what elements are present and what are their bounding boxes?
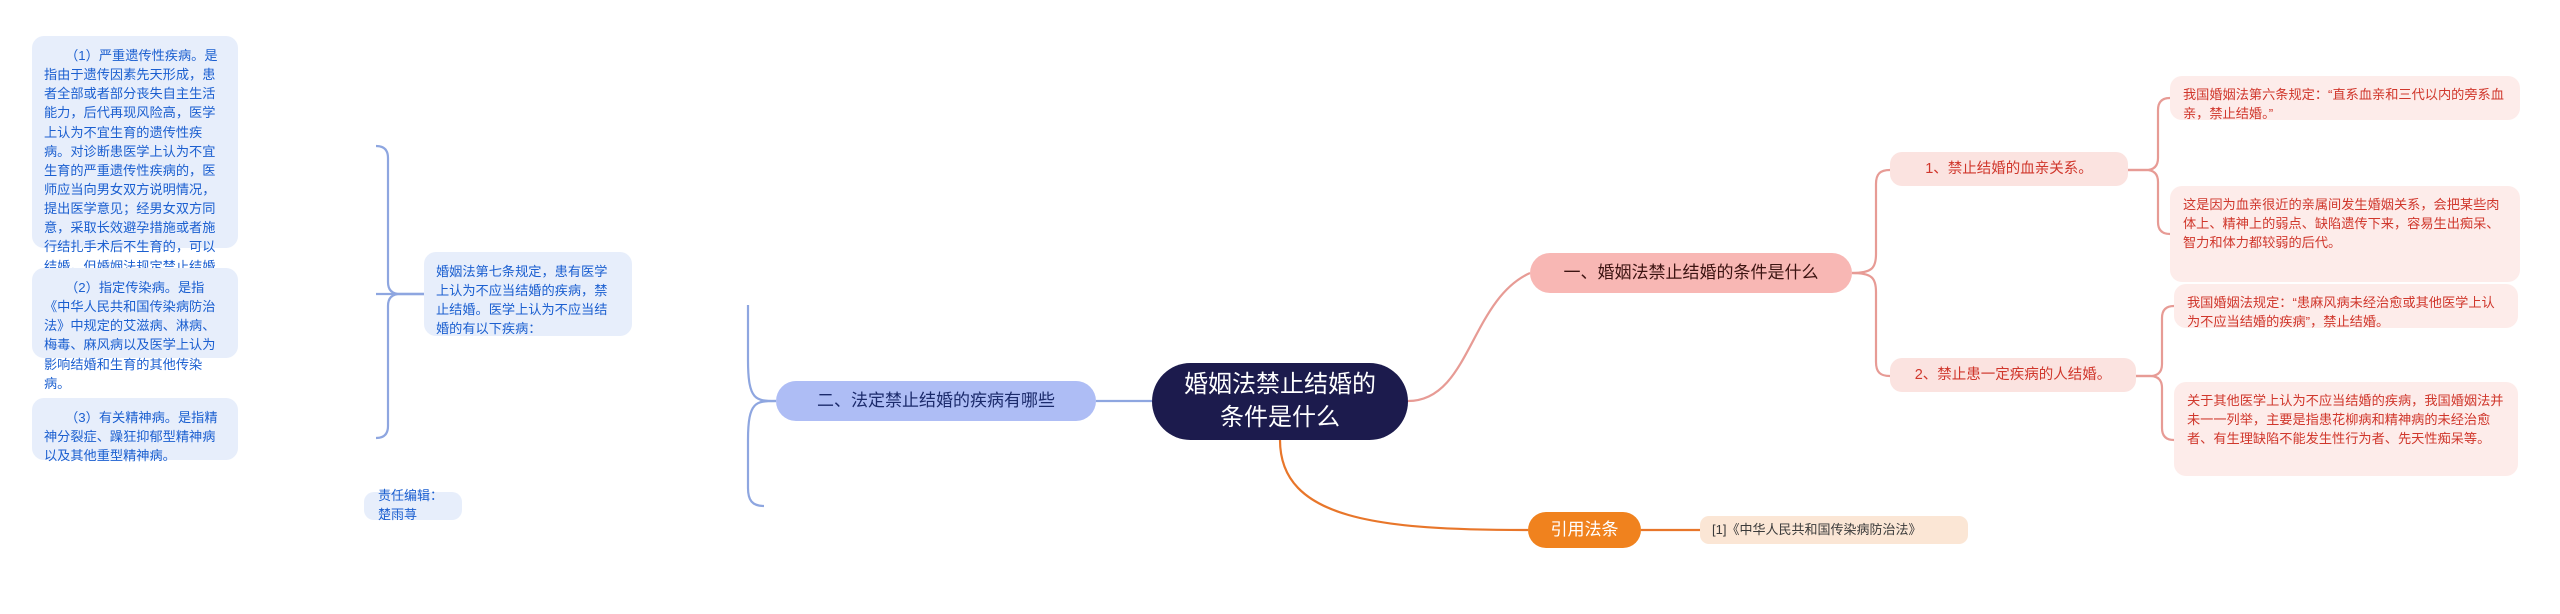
leaf-other-diseases-label: 关于其他医学上认为不应当结婚的疾病，我国婚姻法并未一一列举，主要是指患花柳病和精… bbox=[2187, 391, 2505, 448]
leaf-genetic-disease-label: （1）严重遗传性疾病。是指由于遗传因素先天形成，患者全部或者部分丧失自主生活能力… bbox=[44, 46, 226, 295]
root-node[interactable]: 婚姻法禁止结婚的条件是什么 bbox=[1152, 363, 1408, 440]
leaf-genetic-disease[interactable]: （1）严重遗传性疾病。是指由于遗传因素先天形成，患者全部或者部分丧失自主生活能力… bbox=[32, 36, 238, 248]
leaf-editor-credit-label: 责任编辑：楚雨荨 bbox=[378, 487, 448, 525]
leaf-infectious-disease-label: （2）指定传染病。是指《中华人民共和国传染病防治法》中规定的艾滋病、淋病、梅毒、… bbox=[44, 278, 226, 393]
leaf-other-diseases[interactable]: 关于其他医学上认为不应当结婚的疾病，我国婚姻法并未一一列举，主要是指患花柳病和精… bbox=[2174, 382, 2518, 476]
branch-node-cited-laws[interactable]: 引用法条 bbox=[1528, 512, 1641, 548]
leaf-leprosy-provision[interactable]: 我国婚姻法规定：“患麻风病未经治愈或其他医学上认为不应当结婚的疾病”，禁止结婚。 bbox=[2174, 284, 2518, 328]
mindmap-canvas: 婚姻法禁止结婚的条件是什么 二、法定禁止结婚的疾病有哪些 婚姻法第七条规定，患有… bbox=[0, 0, 2560, 614]
leaf-cited-law-1-label: [1]《中华人民共和国传染病防治法》 bbox=[1712, 521, 1921, 540]
leaf-article6-text-label: 我国婚姻法第六条规定：“直系血亲和三代以内的旁系血亲，禁止结婚。” bbox=[2183, 85, 2507, 123]
branch-node-conditions[interactable]: 一、婚姻法禁止结婚的条件是什么 bbox=[1530, 253, 1852, 293]
leaf-leprosy-provision-label: 我国婚姻法规定：“患麻风病未经治愈或其他医学上认为不应当结婚的疾病”，禁止结婚。 bbox=[2187, 293, 2505, 331]
branch-node-cited-laws-label: 引用法条 bbox=[1551, 518, 1619, 543]
leaf-marriage-law-article7-label: 婚姻法第七条规定，患有医学上认为不应当结婚的疾病，禁止结婚。医学上认为不应当结婚… bbox=[436, 262, 620, 339]
leaf-marriage-law-article7[interactable]: 婚姻法第七条规定，患有医学上认为不应当结婚的疾病，禁止结婚。医学上认为不应当结婚… bbox=[424, 252, 632, 336]
sub-node-blood-relation[interactable]: 1、禁止结婚的血亲关系。 bbox=[1890, 152, 2128, 186]
leaf-blood-relation-reason[interactable]: 这是因为血亲很近的亲属间发生婚姻关系，会把某些肉体上、精神上的弱点、缺陷遗传下来… bbox=[2170, 186, 2520, 282]
leaf-mental-illness-label: （3）有关精神病。是指精神分裂症、躁狂抑郁型精神病以及其他重型精神病。 bbox=[44, 408, 226, 465]
sub-node-disease-prohibition-label: 2、禁止患一定疾病的人结婚。 bbox=[1915, 365, 2112, 386]
leaf-infectious-disease[interactable]: （2）指定传染病。是指《中华人民共和国传染病防治法》中规定的艾滋病、淋病、梅毒、… bbox=[32, 268, 238, 358]
leaf-mental-illness[interactable]: （3）有关精神病。是指精神分裂症、躁狂抑郁型精神病以及其他重型精神病。 bbox=[32, 398, 238, 460]
leaf-blood-relation-reason-label: 这是因为血亲很近的亲属间发生婚姻关系，会把某些肉体上、精神上的弱点、缺陷遗传下来… bbox=[2183, 195, 2507, 252]
branch-node-diseases-label: 二、法定禁止结婚的疾病有哪些 bbox=[817, 389, 1055, 414]
sub-node-blood-relation-label: 1、禁止结婚的血亲关系。 bbox=[1925, 159, 2093, 180]
leaf-cited-law-1[interactable]: [1]《中华人民共和国传染病防治法》 bbox=[1700, 516, 1968, 544]
branch-node-conditions-label: 一、婚姻法禁止结婚的条件是什么 bbox=[1564, 261, 1819, 286]
root-node-label: 婚姻法禁止结婚的条件是什么 bbox=[1178, 369, 1382, 434]
leaf-article6-text[interactable]: 我国婚姻法第六条规定：“直系血亲和三代以内的旁系血亲，禁止结婚。” bbox=[2170, 76, 2520, 120]
branch-node-diseases[interactable]: 二、法定禁止结婚的疾病有哪些 bbox=[776, 381, 1096, 421]
leaf-editor-credit[interactable]: 责任编辑：楚雨荨 bbox=[364, 492, 462, 520]
sub-node-disease-prohibition[interactable]: 2、禁止患一定疾病的人结婚。 bbox=[1890, 358, 2136, 392]
